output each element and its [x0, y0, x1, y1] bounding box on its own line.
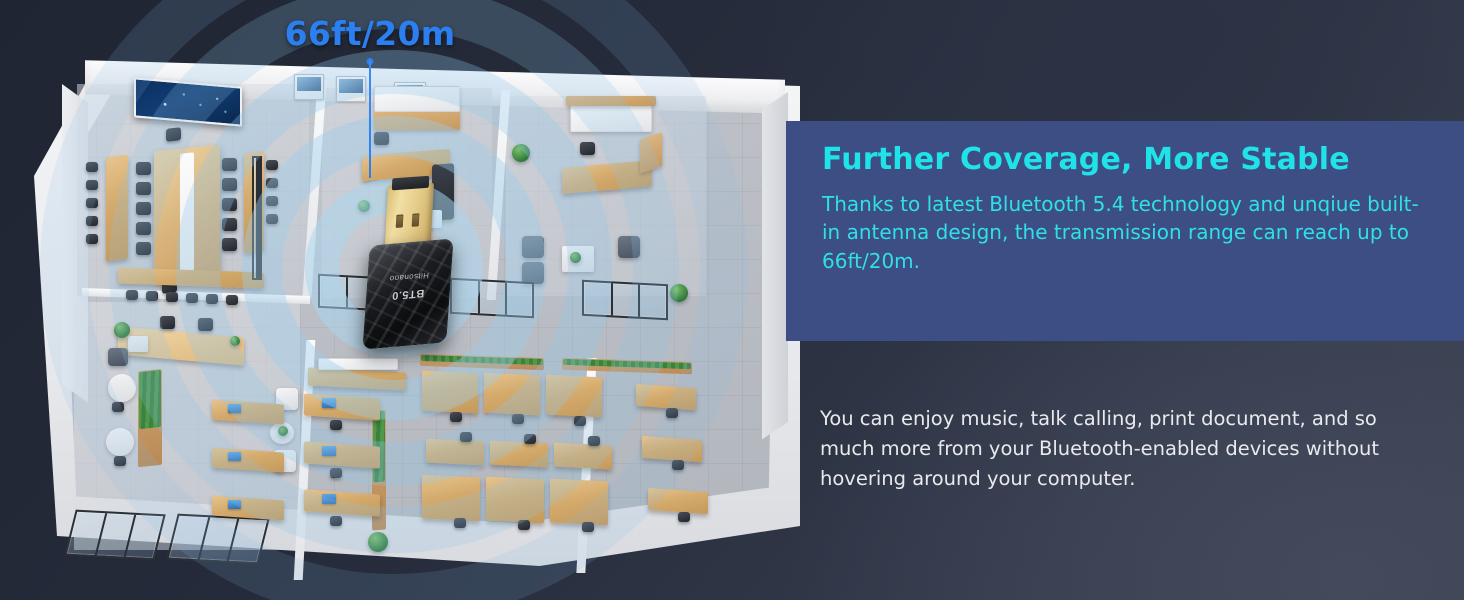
chair	[222, 198, 237, 211]
workstation	[486, 476, 544, 523]
chair	[126, 290, 138, 300]
chair	[588, 436, 600, 446]
chair	[330, 420, 342, 430]
chair	[136, 222, 151, 235]
chair	[666, 408, 678, 418]
chair	[678, 512, 690, 522]
usb-pin	[412, 213, 420, 226]
feature-headline: Further Coverage, More Stable	[822, 143, 1430, 176]
entry-door	[64, 510, 165, 561]
conference-table	[154, 145, 220, 280]
distance-callout: 66ft/20m	[240, 14, 500, 53]
workstation	[422, 371, 478, 414]
chair	[136, 162, 151, 175]
chair	[86, 234, 98, 244]
screen-content	[136, 79, 240, 124]
workstation	[484, 373, 540, 416]
usb-connector-top	[392, 176, 430, 191]
glass-partition	[252, 156, 262, 280]
workstation	[642, 436, 702, 462]
wall-art	[336, 76, 366, 102]
workstation	[554, 442, 612, 469]
table-runner	[180, 152, 193, 271]
workstation	[636, 384, 696, 410]
chair	[266, 160, 278, 170]
chair	[136, 202, 151, 215]
round-table	[106, 428, 134, 456]
dongle-version-label: BT5.0	[391, 287, 424, 302]
floorplan-stage: CE FC Hitsonaoo BT5.0	[22, 40, 812, 570]
monitor	[322, 494, 336, 504]
chair	[186, 293, 198, 303]
potted-plant	[670, 284, 688, 302]
chair	[450, 412, 462, 422]
glass-partition	[582, 280, 668, 321]
chair	[206, 294, 218, 304]
chair	[582, 522, 594, 532]
chair	[86, 216, 98, 226]
cabinet	[374, 112, 460, 130]
wall-art	[294, 74, 324, 100]
chair	[518, 520, 530, 530]
chair	[330, 468, 342, 478]
bookshelf	[570, 102, 652, 132]
feature-panel: Further Coverage, More Stable Thanks to …	[786, 121, 1464, 341]
chair	[574, 416, 586, 426]
callout-leader-line	[369, 60, 371, 178]
chair	[454, 518, 466, 528]
chair	[146, 291, 158, 301]
round-table	[108, 374, 136, 402]
side-table	[106, 155, 128, 261]
monitor	[228, 500, 241, 509]
chair	[672, 460, 684, 470]
workstation	[550, 478, 608, 525]
potted-plant	[114, 322, 130, 338]
office-chair	[374, 132, 389, 145]
secondary-description: You can enjoy music, talk calling, print…	[820, 404, 1430, 495]
armchair	[522, 262, 544, 284]
monitor	[322, 398, 336, 408]
potted-plant	[570, 252, 581, 263]
reception-paper	[128, 336, 148, 352]
distance-label: 66ft/20m	[240, 14, 500, 53]
chair	[86, 180, 98, 190]
chair	[198, 318, 213, 331]
chair	[460, 432, 472, 442]
chair	[222, 238, 237, 251]
usb-pin	[396, 214, 404, 227]
potted-plant	[230, 336, 240, 346]
chair	[222, 218, 237, 231]
chair	[166, 292, 178, 302]
workstation	[648, 488, 708, 514]
armchair	[108, 348, 128, 366]
monitor	[322, 446, 336, 456]
chair	[226, 295, 238, 305]
potted-plant	[278, 426, 288, 436]
hedge-foliage	[139, 370, 161, 429]
workstation	[422, 474, 480, 521]
dongle-body: Hitsonaoo BT5.0	[362, 238, 453, 349]
executive-chair	[580, 142, 595, 155]
chair	[86, 162, 98, 172]
monitor	[228, 452, 241, 461]
bluetooth-usb-dongle: CE FC Hitsonaoo BT5.0	[352, 180, 464, 352]
monitor	[228, 404, 241, 413]
armchair	[522, 236, 544, 258]
wall-right	[762, 92, 788, 440]
chair	[114, 456, 126, 466]
armchair	[618, 236, 640, 258]
chair	[524, 434, 536, 444]
potted-plant	[368, 532, 388, 552]
chair	[266, 196, 278, 206]
potted-plant	[512, 144, 530, 162]
chair	[136, 182, 151, 195]
chair	[222, 178, 237, 191]
credenza	[640, 132, 662, 173]
chair	[160, 316, 175, 329]
office-floorplan-illustration: CE FC Hitsonaoo BT5.0	[22, 40, 812, 570]
entry-door	[166, 514, 269, 565]
planter-hedge	[138, 369, 162, 468]
dongle-brand: Hitsonaoo	[389, 271, 429, 283]
bookshelf-top	[566, 96, 656, 106]
chair	[136, 242, 151, 255]
chair	[512, 414, 524, 424]
chair	[112, 402, 124, 412]
workstation	[546, 375, 602, 418]
chair	[266, 214, 278, 224]
wall-shelf	[374, 86, 460, 112]
workstation	[426, 438, 484, 465]
chair	[166, 127, 181, 142]
chair	[330, 516, 342, 526]
pantry-upper	[318, 358, 398, 370]
chair	[86, 198, 98, 208]
chair	[266, 178, 278, 188]
chair	[222, 158, 237, 171]
feature-description: Thanks to latest Bluetooth 5.4 technolog…	[822, 190, 1430, 275]
workstation	[490, 440, 548, 467]
